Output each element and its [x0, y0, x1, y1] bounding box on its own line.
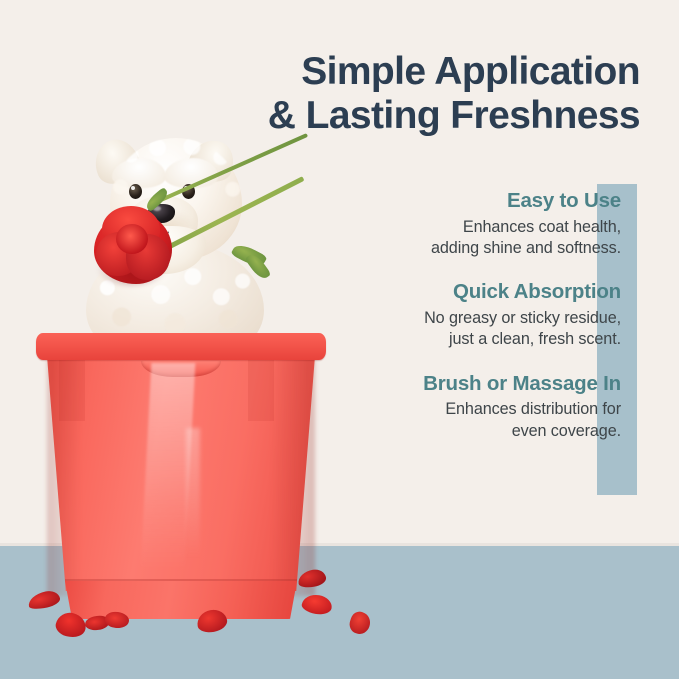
feature-description-line-1: Enhances coat health, [463, 218, 621, 236]
feature-description-line-2: adding shine and softness. [431, 239, 621, 257]
feature-description-line-2: just a clean, fresh scent. [449, 330, 621, 348]
tub-shading-left [47, 356, 81, 596]
infographic-canvas: Simple Application & Lasting Freshness E… [0, 0, 679, 679]
tub-rim [36, 333, 326, 360]
feature-description-line-2: even coverage. [512, 422, 621, 440]
tub-shading-right [271, 356, 315, 596]
dog-eyebrow-left [112, 158, 166, 188]
feature-description-line-1: Enhances distribution for [445, 400, 621, 418]
tub-gloss-highlight-secondary [186, 428, 200, 558]
rose-center [116, 224, 148, 254]
feature-description-line-1: No greasy or sticky residue, [424, 309, 621, 327]
red-plastic-tub [36, 333, 326, 630]
rose-bloom [92, 202, 176, 288]
dog-eye-glint-left [131, 186, 135, 190]
product-photo-artwork [0, 0, 380, 679]
red-rose [92, 196, 322, 296]
tub-base [65, 581, 297, 619]
floor-rose-petal [347, 609, 373, 636]
